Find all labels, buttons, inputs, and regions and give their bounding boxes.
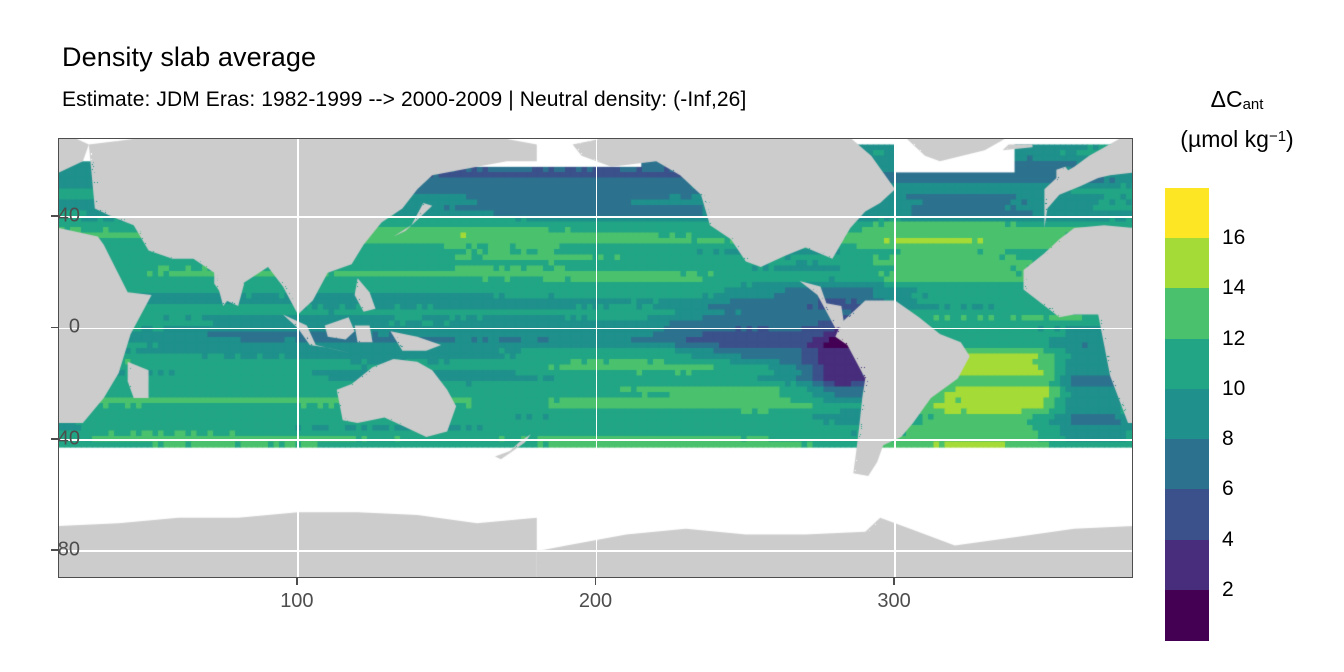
gridline-horizontal xyxy=(59,550,1132,552)
x-axis-tick-label: 100 xyxy=(280,590,313,613)
colorbar xyxy=(1165,188,1209,640)
x-axis-tick-label: 200 xyxy=(579,590,612,613)
colorbar-swatch xyxy=(1165,389,1209,440)
colorbar-tick-label: 10 xyxy=(1222,377,1245,401)
colorbar-swatch xyxy=(1165,540,1209,591)
x-axis-tick xyxy=(893,578,895,585)
gridline-horizontal xyxy=(59,216,1132,218)
legend-units-superscript: −1 xyxy=(1269,128,1286,145)
colorbar-swatch xyxy=(1165,238,1209,289)
figure-subtitle: Estimate: JDM Eras: 1982-1999 --> 2000-2… xyxy=(62,88,746,112)
map-panel xyxy=(58,138,1133,578)
y-axis-tick-label: -80 xyxy=(51,539,80,562)
legend-title: ΔCant xyxy=(1140,86,1334,113)
page-title: Density slab average xyxy=(62,42,316,73)
colorbar-legend: ΔCant (µmol kg−1) 161412108642 xyxy=(1140,86,1344,656)
colorbar-tick-label: 2 xyxy=(1222,578,1234,602)
y-axis-tick-label: 0 xyxy=(69,316,80,339)
colorbar-tick-label: 14 xyxy=(1222,276,1245,300)
colorbar-swatch xyxy=(1165,439,1209,490)
x-axis-tick-label: 300 xyxy=(877,590,910,613)
y-axis-tick-label: 40 xyxy=(58,204,80,227)
figure-root: Density slab average Estimate: JDM Eras:… xyxy=(0,0,1344,672)
colorbar-tick-label: 12 xyxy=(1222,327,1245,351)
gridline-vertical xyxy=(894,139,896,577)
colorbar-swatch xyxy=(1165,339,1209,390)
x-axis-tick xyxy=(296,578,298,585)
y-axis-tick-label: -40 xyxy=(51,427,80,450)
gridline-horizontal xyxy=(59,328,1132,330)
colorbar-swatch xyxy=(1165,590,1209,641)
colorbar-swatch xyxy=(1165,188,1209,239)
colorbar-tick-label: 6 xyxy=(1222,477,1234,501)
legend-units: (µmol kg−1) xyxy=(1140,126,1334,153)
colorbar-tick-label: 16 xyxy=(1222,226,1245,250)
legend-title-subscript: ant xyxy=(1243,96,1264,113)
x-axis-tick xyxy=(595,578,597,585)
gridline-vertical xyxy=(596,139,598,577)
colorbar-tick-label: 8 xyxy=(1222,427,1234,451)
y-axis-tick xyxy=(51,327,58,329)
gridline-vertical xyxy=(297,139,299,577)
colorbar-tick-label: 4 xyxy=(1222,528,1234,552)
colorbar-swatch xyxy=(1165,288,1209,339)
gridline-horizontal xyxy=(59,439,1132,441)
colorbar-swatch xyxy=(1165,489,1209,540)
